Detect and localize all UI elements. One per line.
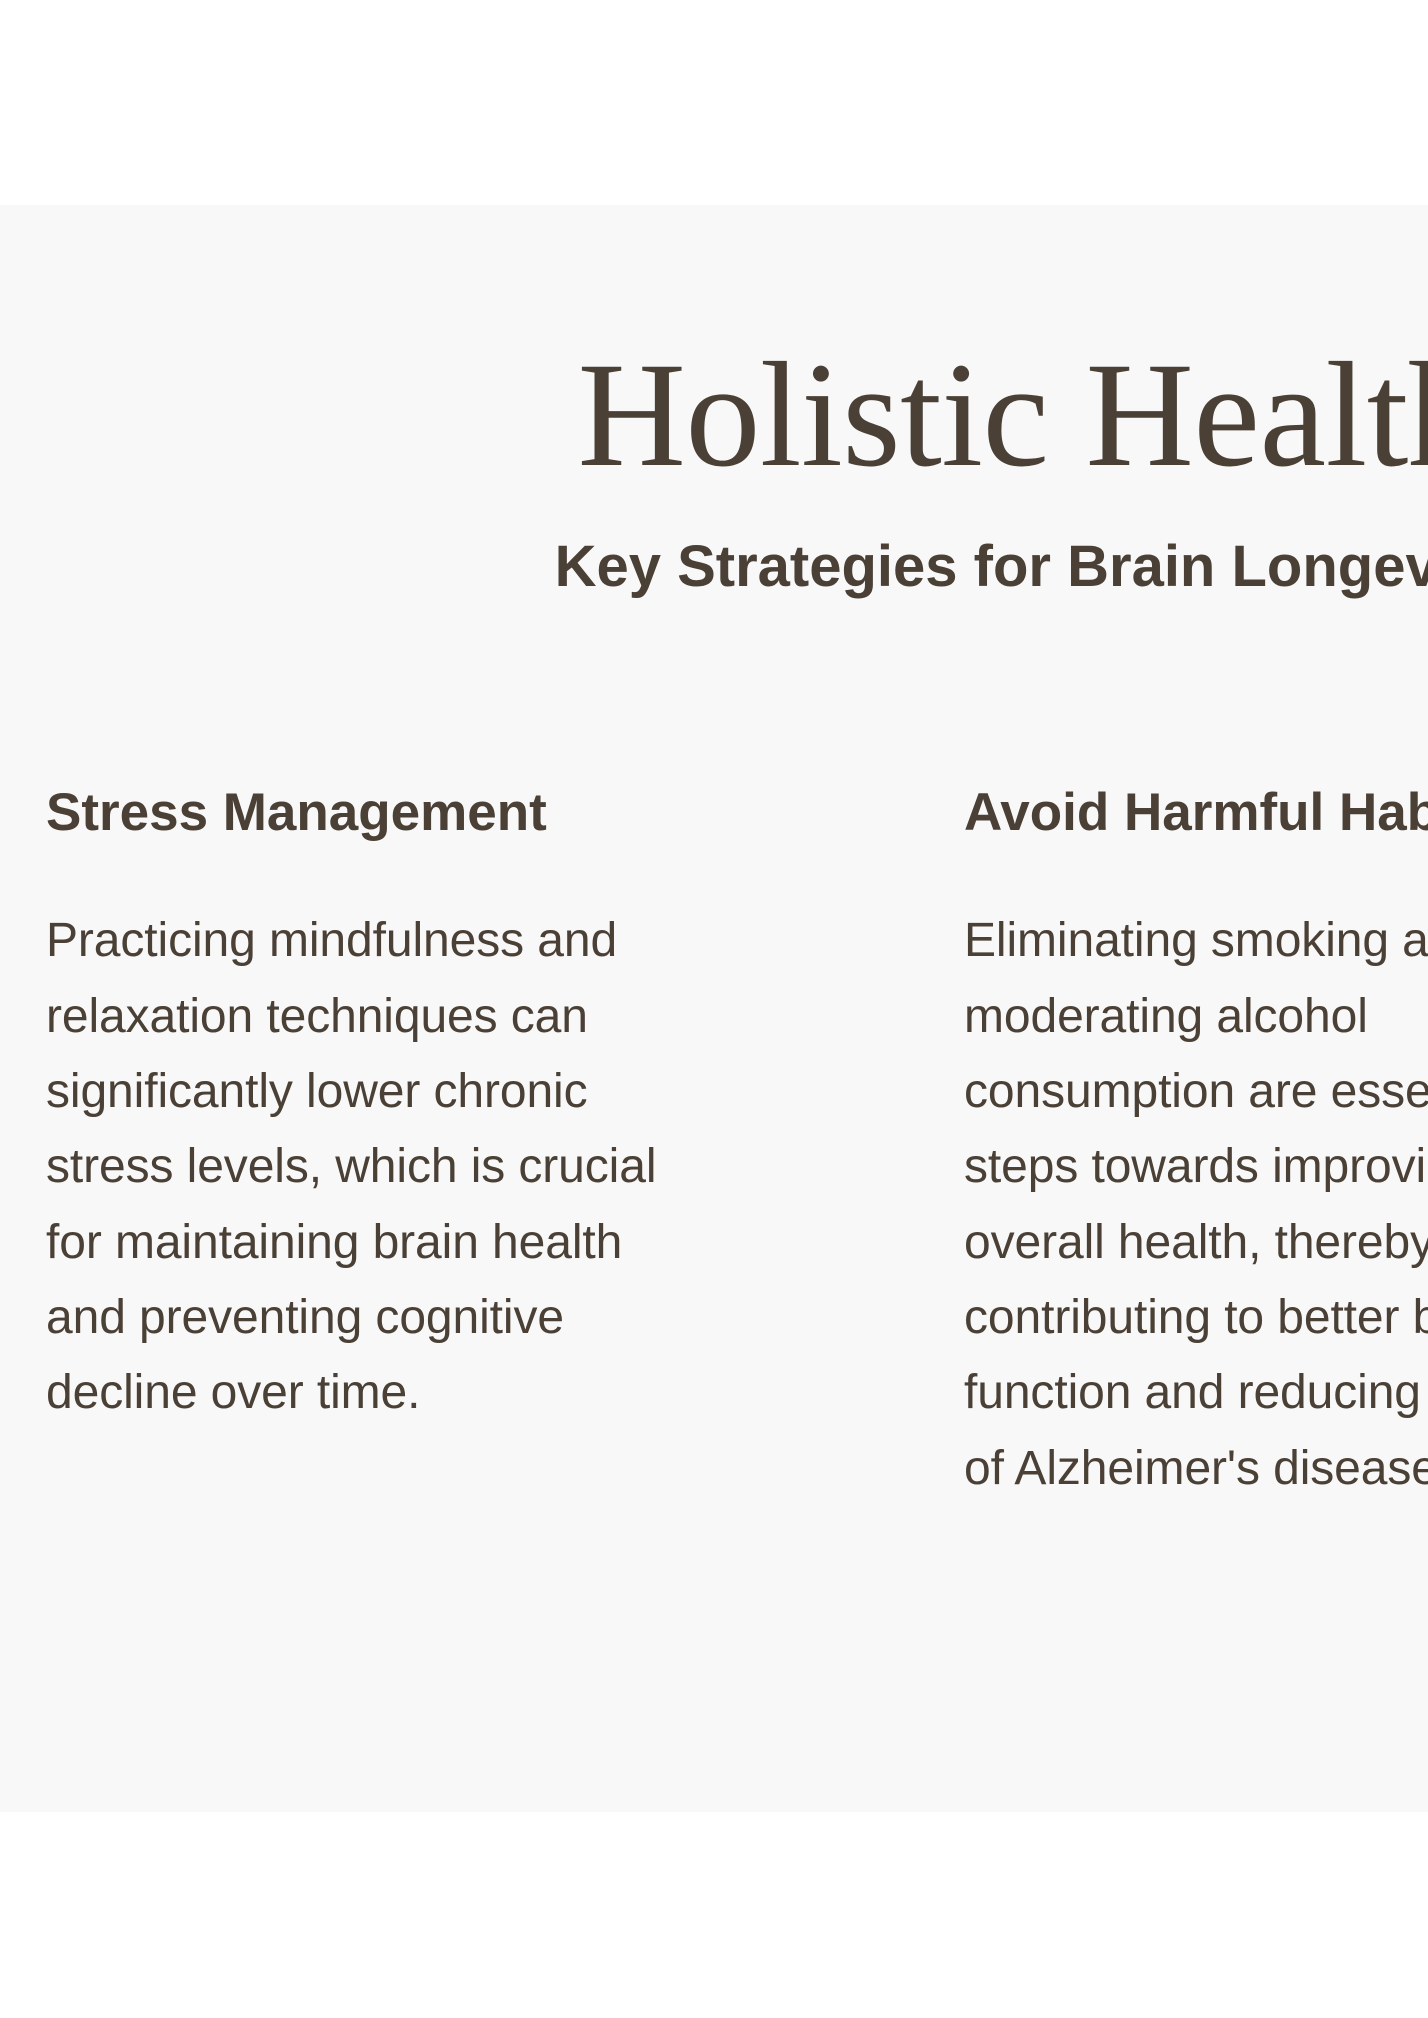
column-heading-stress-management: Stress Management	[46, 785, 676, 841]
column-heading-avoid-harmful-habits: Avoid Harmful Habits	[964, 785, 1428, 841]
column-stress-management: Stress Management Practicing mindfulness…	[46, 785, 676, 1431]
column-avoid-harmful-habits: Avoid Harmful Habits Eliminating smoking…	[964, 785, 1428, 1506]
infographic-header: Holistic Health Key Strategies for Brain…	[0, 205, 1428, 596]
document-viewport: Holistic Health Key Strategies for Brain…	[0, 0, 1428, 2018]
column-body-avoid-harmful-habits: Eliminating smoking and moderating alcoh…	[964, 903, 1428, 1506]
page-title: Holistic Health	[0, 340, 1428, 490]
infographic-canvas: Holistic Health Key Strategies for Brain…	[0, 205, 1428, 1812]
column-body-stress-management: Practicing mindfulness and relaxation te…	[46, 903, 676, 1431]
page-subtitle: Key Strategies for Brain Longevity	[0, 538, 1428, 596]
content-columns: Stress Management Practicing mindfulness…	[46, 785, 1428, 1506]
